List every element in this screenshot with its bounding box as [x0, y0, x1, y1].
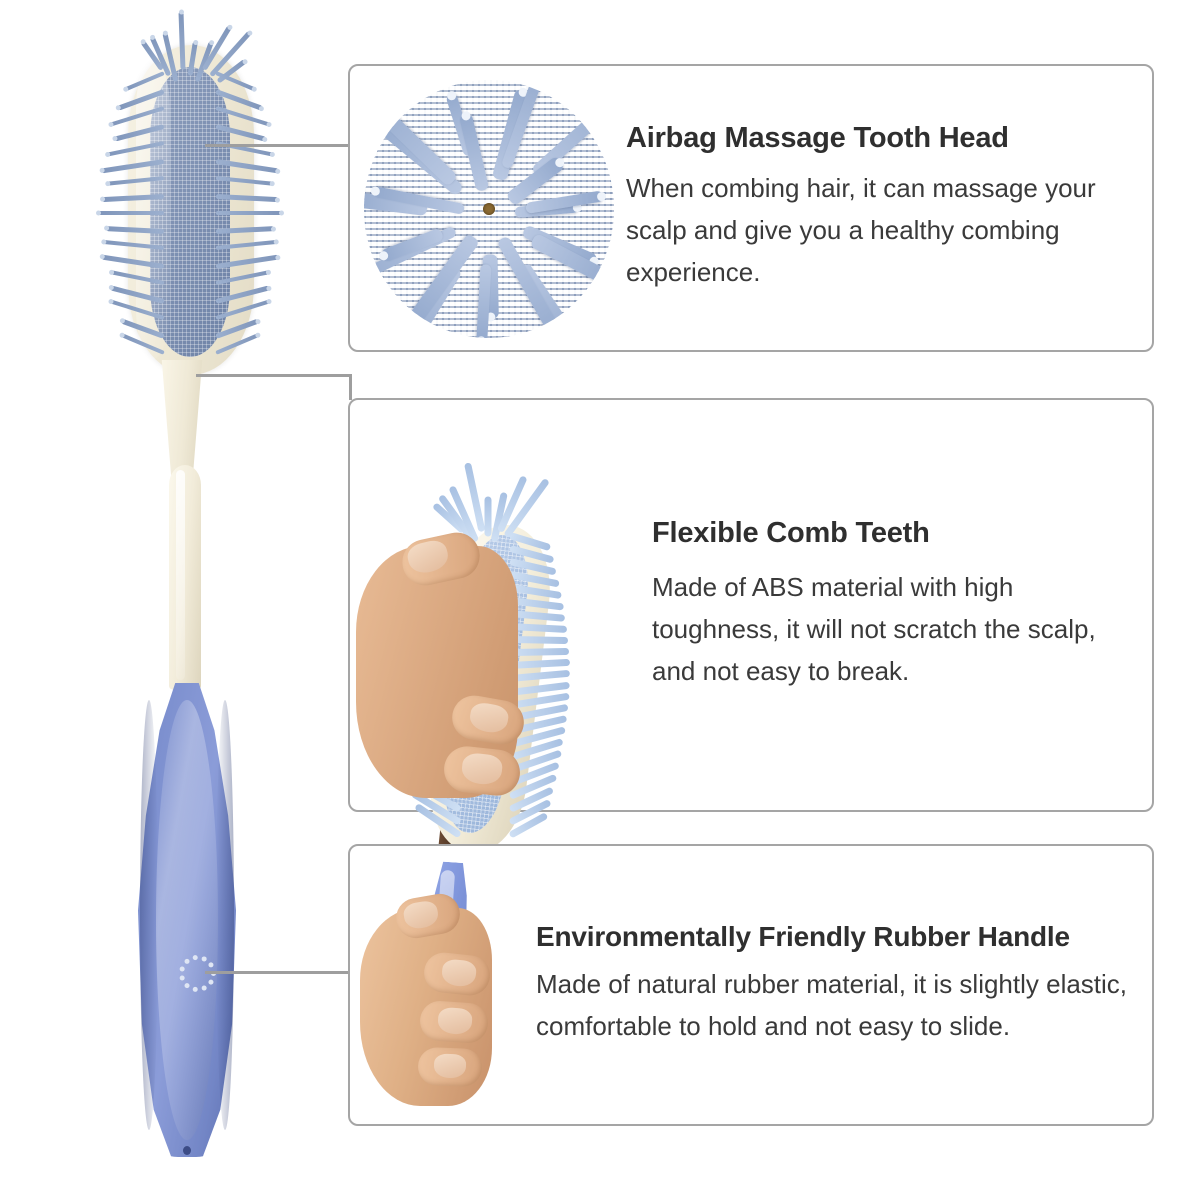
- bristle: [216, 211, 282, 215]
- airbag-pad-macro-photo: [350, 66, 612, 350]
- handle-hang-hole: [183, 1146, 191, 1155]
- ring-dot: [179, 975, 184, 980]
- ring-dot: [192, 955, 197, 960]
- rubber-grip-right-shadow: [216, 700, 234, 1130]
- feature-panel-rubber-handle[interactable]: Environmentally Friendly Rubber Handle M…: [348, 844, 1154, 1126]
- product-illustration: [0, 0, 340, 1200]
- infographic-canvas: Airbag Massage Tooth Head When combing h…: [0, 0, 1200, 1200]
- panel2-title: Flexible Comb Teeth: [652, 518, 1128, 550]
- bristle: [178, 11, 185, 69]
- hand-illustration: [360, 862, 520, 1112]
- air-vent-hole: [483, 203, 495, 215]
- panel1-title: Airbag Massage Tooth Head: [626, 123, 1134, 155]
- hand-illustration: [356, 518, 536, 800]
- ring-dot: [201, 956, 206, 961]
- brush-shaft: [169, 465, 201, 690]
- connector-line-panel3: [205, 971, 351, 974]
- ring-dot: [201, 985, 206, 990]
- ring-dot: [208, 979, 213, 984]
- panel3-title: Environmentally Friendly Rubber Handle: [536, 922, 1142, 953]
- brush-head: [110, 45, 270, 375]
- ring-dot: [184, 958, 189, 963]
- rubber-grip-lens-highlight: [156, 700, 218, 1140]
- ring-dot: [184, 983, 189, 988]
- ring-dot: [208, 962, 213, 967]
- brush-shaft-highlight: [176, 470, 185, 680]
- feature-panel-airbag-massage-tooth-head[interactable]: Airbag Massage Tooth Head When combing h…: [348, 64, 1154, 352]
- comb-tooth: [485, 497, 492, 537]
- airbag-pad-macro-circle: [364, 80, 614, 338]
- macro-bristle: [530, 233, 614, 289]
- hand-gripping-handle-photo: [350, 846, 528, 1124]
- brush-neck: [160, 360, 204, 480]
- panel3-body: Made of natural rubber material, it is s…: [536, 963, 1142, 1047]
- bristle: [98, 211, 164, 215]
- ring-finger-nail: [434, 1053, 467, 1078]
- comb-tooth: [510, 648, 569, 656]
- macro-bristle: [476, 264, 491, 338]
- connector-line-panel2-horizontal: [196, 374, 352, 377]
- connector-line-panel2-vertical: [349, 374, 352, 400]
- hand-holding-brush-head-photo: [350, 400, 642, 810]
- ring-dot: [179, 966, 184, 971]
- comb-tooth: [510, 636, 568, 644]
- feature-panel-flexible-comb-teeth[interactable]: Flexible Comb Teeth Made of ABS material…: [348, 398, 1154, 812]
- panel2-body: Made of ABS material with high toughness…: [652, 566, 1128, 692]
- macro-bristle: [364, 93, 458, 187]
- connector-line-panel1: [205, 144, 350, 147]
- panel1-body: When combing hair, it can massage your s…: [626, 167, 1134, 293]
- ring-dot: [192, 986, 197, 991]
